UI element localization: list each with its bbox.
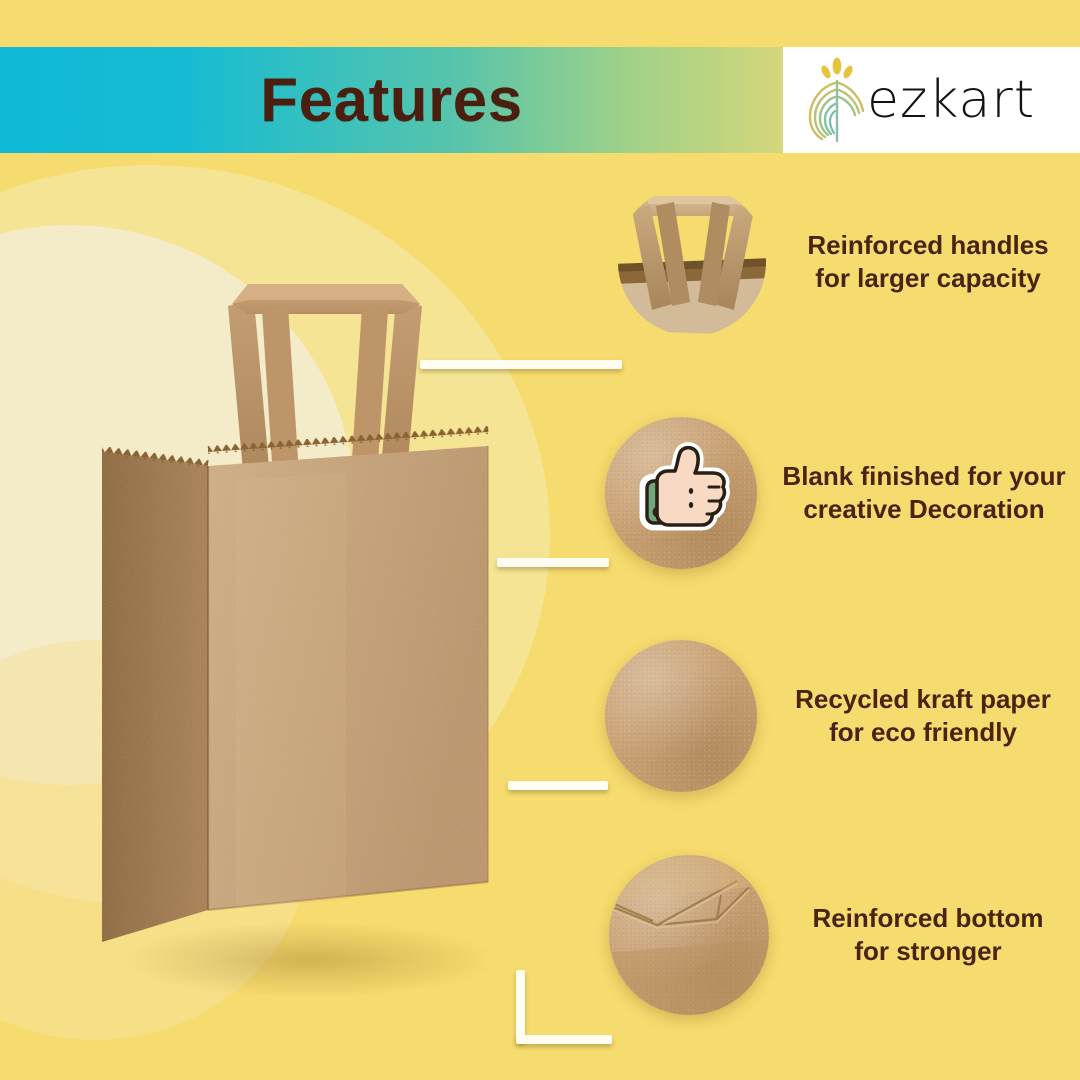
feature-label-line1: Blank finished for your (769, 460, 1079, 493)
tree-sprout-icon (801, 57, 873, 143)
brand-name: ezkart (867, 74, 1035, 126)
feature-label-line1: Recycled kraft paper (773, 683, 1073, 716)
feature-label-line2: creative Decoration (769, 493, 1079, 526)
thumbs-up-icon (629, 441, 733, 545)
feature-callout-reinforced-bottom[interactable]: Reinforced bottom for stronger (516, 855, 1073, 1015)
feature-label-handles: Reinforced handles for larger capacity (782, 229, 1074, 296)
connector-line-4 (516, 928, 612, 942)
feature-callout-blank-finish[interactable]: Blank finished for your creative Decorat… (497, 417, 1079, 569)
connector-line-2 (497, 486, 609, 500)
kraft-paper-bag-illustration (96, 270, 526, 1010)
connector-line-3 (508, 709, 608, 723)
bag-handle-detail-icon (616, 186, 768, 338)
header-band: Features (0, 47, 1080, 153)
bag-bottom-fold-icon (609, 855, 769, 1015)
feature-poster: Features (0, 0, 1080, 1080)
kraft-circle-2 (605, 417, 757, 569)
feature-label-line2: for eco friendly (773, 716, 1073, 749)
feature-callout-recycled-kraft[interactable]: Recycled kraft paper for eco friendly (508, 640, 1073, 792)
feature-label-line1: Reinforced handles (782, 229, 1074, 262)
feature-label-blank-finish: Blank finished for your creative Decorat… (769, 460, 1079, 527)
feature-label-line2: for stronger (783, 935, 1073, 968)
feature-label-recycled-kraft: Recycled kraft paper for eco friendly (773, 683, 1073, 750)
connector-line-1 (414, 242, 622, 282)
feature-label-line2: for larger capacity (782, 262, 1074, 295)
brand-logo-plate[interactable]: ezkart (783, 47, 1080, 153)
feature-label-line1: Reinforced bottom (783, 902, 1073, 935)
feature-label-reinforced-bottom: Reinforced bottom for stronger (783, 902, 1073, 969)
kraft-texture-swatch-icon (605, 640, 757, 792)
feature-callout-handles[interactable]: Reinforced handles for larger capacity (414, 186, 1074, 338)
page-title: Features (0, 47, 783, 153)
